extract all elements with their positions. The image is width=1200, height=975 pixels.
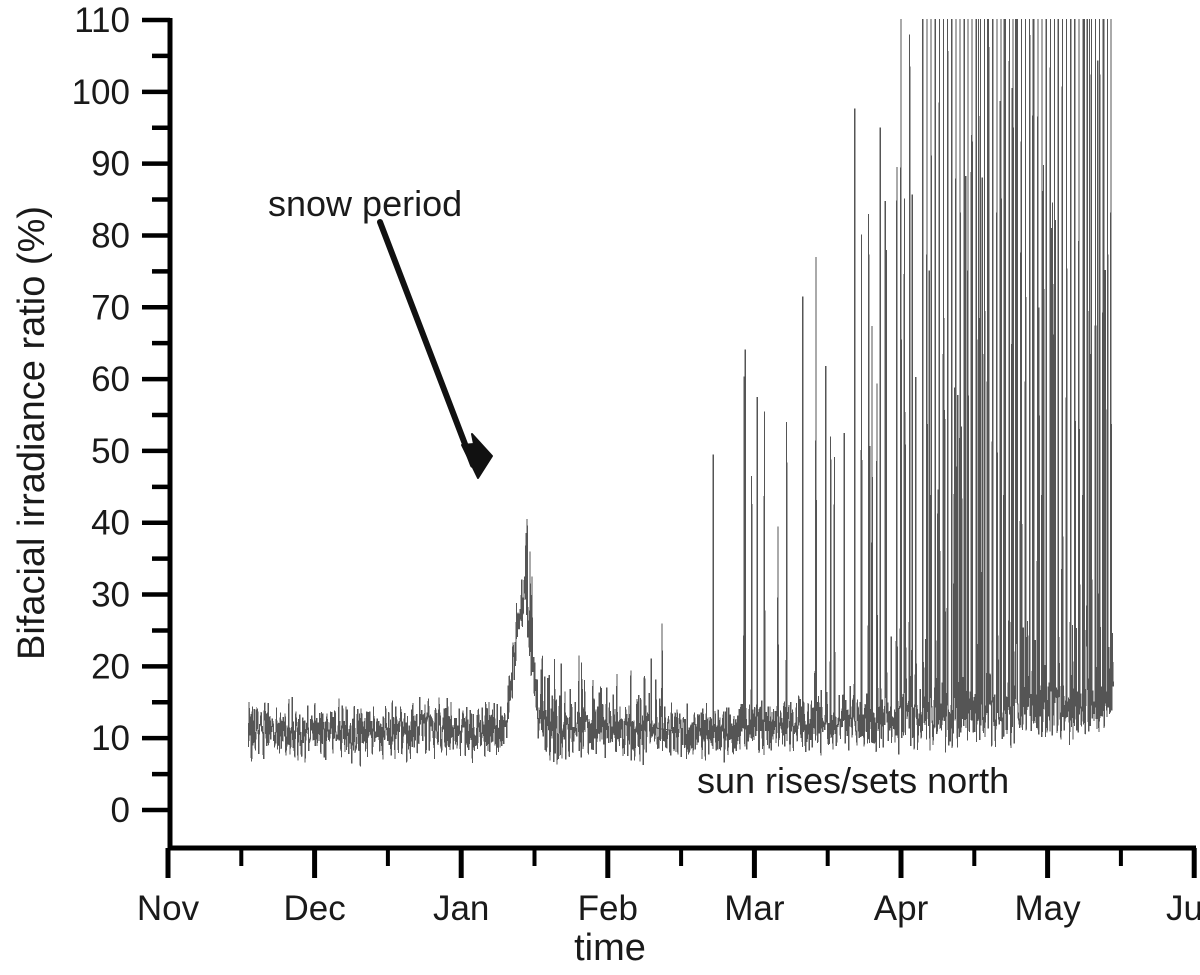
bifacial-irradiance-ratio-chart: 0102030405060708090100110 NovDecJanFebMa… bbox=[0, 0, 1200, 975]
y-axis-title: Bifacial irradiance ratio (%) bbox=[11, 206, 53, 660]
y-tick-label: 100 bbox=[72, 73, 130, 112]
x-tick-label: Feb bbox=[578, 889, 638, 928]
y-tick-label: 70 bbox=[91, 288, 130, 327]
x-tick-label: Apr bbox=[874, 889, 929, 928]
y-tick-label: 30 bbox=[91, 576, 130, 615]
y-tick-label: 40 bbox=[91, 504, 130, 543]
y-tick-label: 80 bbox=[91, 216, 130, 255]
sun-rises-sets-north-annotation-label: sun rises/sets north bbox=[697, 760, 1009, 801]
y-tick-label: 10 bbox=[91, 719, 130, 758]
x-tick-label: Dec bbox=[283, 889, 345, 928]
x-tick-label: Nov bbox=[137, 889, 200, 928]
y-tick-label: 110 bbox=[74, 1, 130, 40]
x-tick-label: May bbox=[1015, 889, 1082, 928]
chart-figure: 0102030405060708090100110 NovDecJanFebMa… bbox=[0, 0, 1200, 975]
y-tick-label: 90 bbox=[91, 145, 130, 184]
x-tick-label: Jan bbox=[433, 889, 489, 928]
y-tick-label: 60 bbox=[91, 360, 130, 399]
y-tick-label: 0 bbox=[111, 791, 130, 830]
x-tick-label: Mar bbox=[724, 889, 785, 928]
y-tick-label: 20 bbox=[91, 647, 130, 686]
x-tick-label: Jun bbox=[1166, 889, 1200, 928]
snow-period-annotation-label: snow period bbox=[268, 183, 462, 224]
y-tick-label: 50 bbox=[91, 432, 130, 471]
x-axis-title: time bbox=[574, 927, 646, 969]
